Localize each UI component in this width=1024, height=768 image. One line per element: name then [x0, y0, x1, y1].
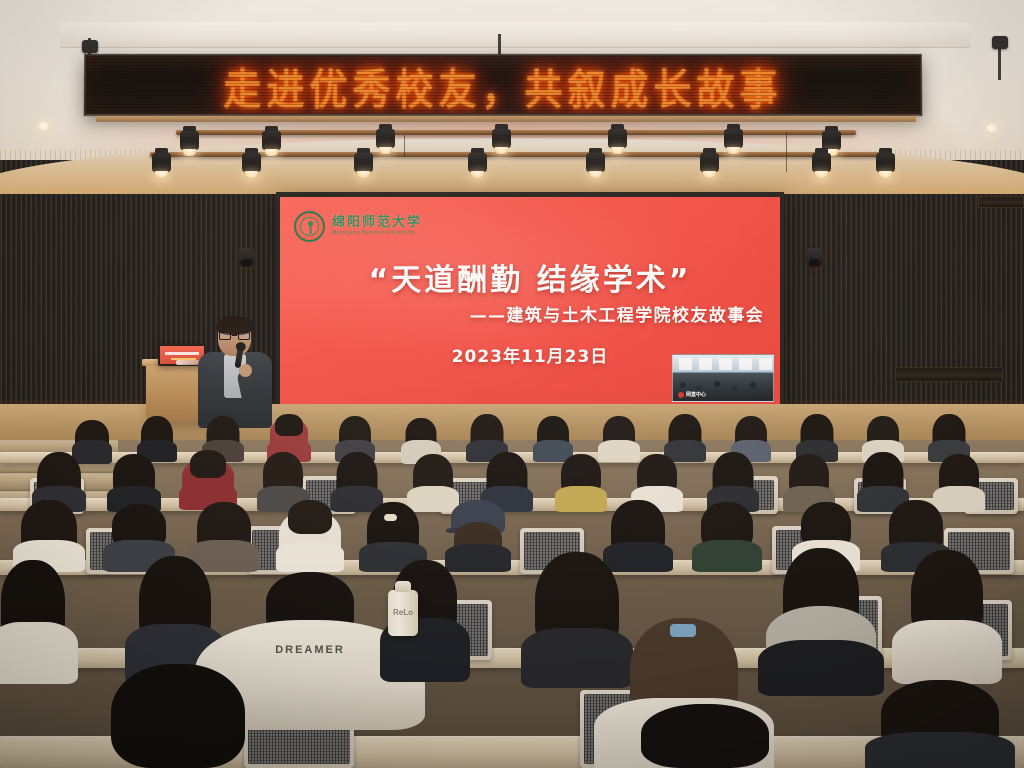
audience-member: [110, 664, 246, 768]
recessed-downlight: [986, 124, 997, 132]
audience-member: [932, 414, 966, 458]
audience-member: [534, 552, 620, 684]
stage-spotlight: [876, 148, 895, 178]
university-name-block: 绵阳师范大学 Mianyang Normal University: [332, 216, 422, 237]
stage-spotlight: [492, 124, 511, 154]
wall-speaker-right: [806, 248, 823, 267]
audience-member: [366, 502, 420, 568]
inset-caption: 网直中心: [686, 391, 706, 398]
truss-cable: [786, 132, 787, 172]
hair-clip: [384, 514, 397, 521]
stage-spotlight: [152, 148, 171, 178]
stage-spotlight: [262, 126, 281, 156]
hair-scrunchie: [670, 624, 696, 637]
led-banner-text: 走进优秀校友，共叙成长故事: [223, 54, 782, 116]
audience-member: [0, 560, 66, 680]
audience-member: [404, 418, 438, 458]
audience-member: [910, 550, 984, 688]
audience-member: [412, 454, 454, 508]
stage-spotlight: [376, 124, 395, 154]
audience-member: [536, 416, 570, 458]
projection-screen: 绵阳师范大学 Mianyang Normal University “天道酬勤 …: [280, 197, 780, 408]
recessed-downlight: [38, 122, 49, 130]
slide-subtitle: ——建筑与土木工程学院校友故事会: [470, 301, 764, 326]
jacket-text: DREAMER: [275, 644, 345, 656]
audience-member: [336, 452, 378, 508]
inset-window: [719, 358, 732, 370]
inset-window: [739, 358, 752, 370]
inset-logo-dot: [678, 392, 684, 398]
glasses-icon: [219, 332, 250, 340]
university-seal-icon: [294, 211, 325, 242]
wall-speaker-left: [238, 248, 255, 267]
inset-window: [759, 358, 772, 370]
inset-window: [699, 358, 712, 370]
ceiling-camera: [82, 40, 98, 53]
ceiling-camera: [992, 36, 1008, 49]
audience-member: [880, 680, 1000, 768]
stage-spotlight: [586, 148, 605, 178]
presenter-hand: [239, 364, 252, 377]
stage-spotlight: [242, 148, 261, 178]
lecture-hall-photo: 走进优秀校友，共叙成长故事 绵阳师范大学 Mianyang Normal Uni…: [0, 0, 1024, 768]
presenter: [196, 318, 274, 428]
audience-member: [140, 416, 174, 458]
audience-member: [782, 548, 860, 688]
audience-member: [712, 452, 754, 508]
stage-spotlight: [724, 124, 743, 154]
banner-shelf: [96, 116, 916, 122]
audience-member: [112, 454, 156, 508]
stage-spotlight: [468, 148, 487, 178]
slide-title: “天道酬勤 结缘学术”: [280, 255, 780, 299]
wall-air-vent: [978, 196, 1024, 208]
audience-member: [700, 502, 754, 568]
water-bottle: ReLo: [388, 590, 418, 636]
stage-spotlight: [180, 126, 199, 156]
audience-member: [640, 704, 770, 768]
inset-channel-logo: 网直中心: [678, 391, 706, 398]
audience-member: [20, 500, 78, 568]
bottle-cap: [395, 581, 411, 592]
audience-member: [452, 500, 504, 568]
university-name-en: Mianyang Normal University: [332, 231, 422, 237]
ceiling-soffit: [60, 22, 970, 48]
inset-window: [679, 358, 692, 370]
stage-spotlight: [700, 148, 719, 178]
audience-member: [284, 500, 336, 568]
audience-member: [602, 416, 636, 458]
wall-air-vent: [895, 367, 1003, 382]
bottle-label: ReLo: [388, 608, 418, 617]
audience-member: [788, 454, 830, 508]
led-scrolling-banner: 走进优秀校友，共叙成长故事: [84, 54, 923, 116]
audience-member: [938, 454, 980, 508]
audience-member: [800, 414, 834, 458]
truss-cable: [404, 134, 405, 156]
audience-member: [186, 450, 230, 508]
stage-spotlight: [354, 148, 373, 178]
audience-member: [668, 414, 702, 458]
projection-screen-frame: 绵阳师范大学 Mianyang Normal University “天道酬勤 …: [276, 192, 784, 414]
stage-spotlight: [608, 124, 627, 154]
university-name-cn: 绵阳师范大学: [332, 216, 422, 230]
audience-member: [560, 454, 602, 508]
audience-member-dreamer: DREAMER: [262, 572, 358, 722]
monitor-title-line: [165, 352, 199, 355]
slide-university-logo: 绵阳师范大学 Mianyang Normal University: [294, 211, 422, 242]
stage-spotlight: [812, 148, 831, 178]
live-camera-feed: 网直中心: [672, 354, 774, 402]
lighting-truss-lower: [150, 152, 890, 157]
